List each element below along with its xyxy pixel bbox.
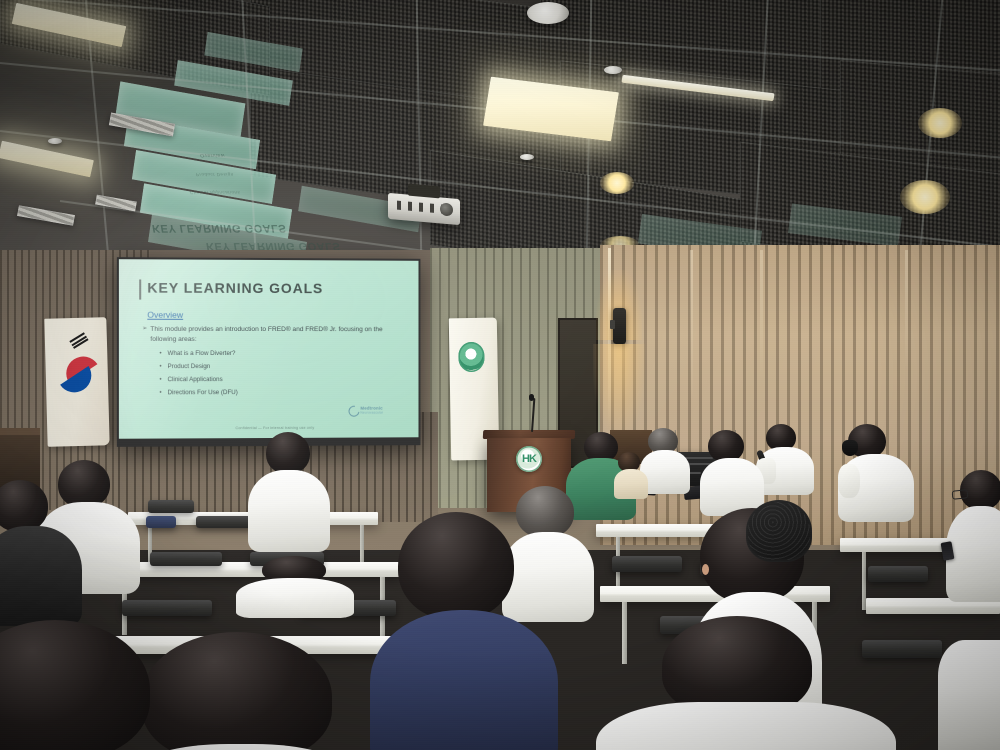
glasses bbox=[952, 489, 969, 500]
head bbox=[662, 616, 812, 716]
projector-lens bbox=[440, 202, 453, 216]
podium-emblem-text: HK bbox=[522, 454, 536, 465]
smoke-detector bbox=[520, 154, 534, 160]
torso bbox=[946, 506, 1000, 602]
ear bbox=[702, 564, 709, 575]
arrow-bullet-icon: ➢ bbox=[142, 325, 147, 334]
slide-sub-text: Clinical Applications bbox=[168, 376, 223, 383]
slide-title: KEY LEARNING GOALS bbox=[147, 279, 323, 296]
slide-lead-text: This module provides an introduction to … bbox=[150, 326, 382, 343]
torso bbox=[370, 610, 558, 750]
slide-title-accent bbox=[139, 279, 141, 299]
slide-section-heading: Overview bbox=[147, 310, 183, 320]
slide-sub-text: What is a Flow Diverter? bbox=[168, 350, 236, 357]
smoke-detector bbox=[48, 138, 62, 144]
reflected-slide-body: Product Design bbox=[196, 172, 235, 177]
chair bbox=[862, 640, 942, 658]
torso bbox=[248, 470, 330, 552]
dot-bullet-icon: • bbox=[159, 350, 161, 359]
torso bbox=[0, 526, 82, 626]
head bbox=[266, 432, 310, 474]
torso bbox=[596, 702, 896, 750]
ac-vent bbox=[17, 205, 75, 226]
podium-emblem: HK bbox=[516, 446, 542, 472]
sconce-switch bbox=[610, 320, 615, 329]
slide-lead-bullet: ➢ This module provides an introduction t… bbox=[150, 325, 398, 346]
projector-mount bbox=[408, 184, 440, 199]
head bbox=[58, 460, 110, 508]
presentation-slide: KEY LEARNING GOALS Overview ➢ This modul… bbox=[119, 259, 419, 439]
chair bbox=[146, 516, 176, 528]
south-korea-flag bbox=[44, 317, 109, 447]
ceiling-light-panel bbox=[0, 141, 94, 178]
side-cabinet bbox=[0, 428, 40, 488]
trigram bbox=[69, 332, 89, 350]
torso bbox=[502, 532, 594, 622]
slide-sub-bullet: • Directions For Use (DFU) bbox=[168, 389, 238, 398]
slide-sub-bullet: • What is a Flow Diverter? bbox=[168, 350, 236, 359]
round-ceiling-speaker bbox=[527, 2, 569, 24]
torso bbox=[614, 469, 648, 499]
slide-footer: Confidential — For internal training use… bbox=[180, 426, 370, 431]
chair bbox=[150, 552, 222, 566]
wall-edge-highlight bbox=[760, 250, 763, 380]
dot-bullet-icon: • bbox=[159, 363, 161, 372]
slide-sub-bullet: • Product Design bbox=[168, 363, 211, 372]
wall-edge-highlight bbox=[905, 250, 908, 370]
hair-scrunchie bbox=[746, 500, 812, 562]
projector-vents bbox=[397, 201, 443, 214]
projection-screen: KEY LEARNING GOALS Overview ➢ This modul… bbox=[117, 257, 421, 447]
dot-bullet-icon: • bbox=[159, 376, 161, 385]
logo-tagline: Neurovascular bbox=[360, 411, 408, 415]
desk-leg bbox=[622, 602, 627, 664]
ceiling-downlight bbox=[900, 180, 950, 214]
wall-edge-highlight bbox=[690, 250, 693, 400]
slide-sub-bullet: • Clinical Applications bbox=[168, 376, 223, 385]
chair bbox=[148, 500, 194, 513]
chair bbox=[122, 600, 212, 616]
chair bbox=[868, 566, 928, 582]
ceiling-downlight bbox=[918, 108, 962, 138]
smoke-detector bbox=[604, 66, 622, 74]
medtronic-logo: Medtronic Neurovascular bbox=[350, 406, 409, 426]
side-cabinet-top bbox=[0, 428, 40, 435]
slide-sub-text: Directions For Use (DFU) bbox=[168, 389, 238, 396]
sconce-downward-glow bbox=[593, 344, 645, 434]
slide-sub-text: Product Design bbox=[168, 363, 211, 370]
head bbox=[398, 512, 514, 620]
torso bbox=[938, 640, 1000, 750]
face-mask bbox=[842, 440, 858, 456]
reflected-slide-body: Clinical Applications bbox=[190, 190, 241, 195]
institution-emblem bbox=[458, 342, 485, 372]
lecture-room-photo: KEY LEARNING GOALS KEY LEARNING GOALS Ov… bbox=[0, 0, 1000, 750]
chair bbox=[612, 556, 682, 572]
head bbox=[142, 632, 332, 750]
chair bbox=[196, 516, 254, 528]
head bbox=[516, 486, 574, 538]
dot-bullet-icon: • bbox=[159, 389, 161, 398]
microphone-head bbox=[529, 394, 534, 401]
head bbox=[0, 480, 48, 532]
torso bbox=[236, 578, 354, 618]
ceiling: KEY LEARNING GOALS KEY LEARNING GOALS Ov… bbox=[0, 0, 1000, 262]
right-wood-slat-wall bbox=[600, 245, 1000, 545]
arm bbox=[838, 464, 860, 498]
ceiling-downlight bbox=[600, 172, 634, 194]
medtronic-mark-icon bbox=[346, 404, 361, 419]
